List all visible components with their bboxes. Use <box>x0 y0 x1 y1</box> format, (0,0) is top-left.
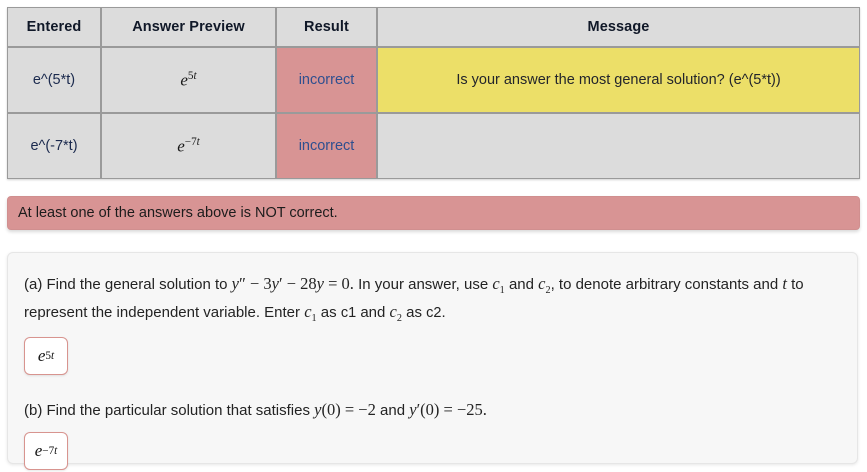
answer-input-part-a[interactable]: e5t <box>24 337 68 375</box>
conjunction-and-1: and <box>509 276 534 293</box>
answer-b-base: e <box>35 441 43 461</box>
table-row: e^(-7*t) e−7t incorrect <box>7 113 860 179</box>
cell-entered: e^(-7*t) <box>7 113 101 179</box>
results-table-container: Entered Answer Preview Result Message e^… <box>7 7 860 179</box>
answer-a-base: e <box>38 346 46 366</box>
equation-y2: y <box>272 274 279 293</box>
code-c2: c2 <box>426 305 441 321</box>
preview-exponent: 5t <box>188 70 197 82</box>
equation-double-prime: ″ <box>239 274 246 293</box>
equation-y1: y <box>232 274 239 293</box>
equation-equals-zero: = 0. <box>324 274 354 293</box>
equation-minus-28: − 28 <box>283 274 317 293</box>
answer-b-exponent: −7t <box>42 445 57 457</box>
part-b-label: (b) <box>24 402 42 419</box>
conjunction-and-2: and <box>360 304 385 321</box>
page-root: Entered Answer Preview Result Message e^… <box>0 0 867 472</box>
condition-y-value: = −2 <box>341 400 376 419</box>
column-header-result: Result <box>276 7 377 47</box>
condition-yprime-value: = −25. <box>439 400 487 419</box>
cell-answer-preview: e5t <box>101 47 276 113</box>
cell-entered: e^(5*t) <box>7 47 101 113</box>
results-table: Entered Answer Preview Result Message e^… <box>7 7 860 179</box>
condition-yprime-arg: (0) <box>420 400 439 419</box>
part-b-text-1: Find the particular solution that satisf… <box>47 402 310 419</box>
question-part-a: (a) Find the general solution to y″ − 3y… <box>24 271 814 327</box>
part-a-text-3: , to denote arbitrary constants and <box>551 276 779 293</box>
equation-minus-3: − 3 <box>246 274 272 293</box>
condition-yprime: y <box>409 400 416 419</box>
cell-result-status: incorrect <box>276 47 377 113</box>
cell-message <box>377 113 860 179</box>
part-a-text-2: In your answer, use <box>358 276 488 293</box>
answer-input-part-b[interactable]: e−7t <box>24 432 68 470</box>
part-a-text-1: Find the general solution to <box>47 276 228 293</box>
cell-result-status: incorrect <box>276 113 377 179</box>
results-table-head: Entered Answer Preview Result Message <box>7 7 860 47</box>
variable-t: t <box>782 274 787 293</box>
constant-c1-subscript: 1 <box>500 285 505 296</box>
constant-c1: c <box>492 274 499 293</box>
column-header-answer-preview: Answer Preview <box>101 7 276 47</box>
table-row: e^(5*t) e5t incorrect Is your answer the… <box>7 47 860 113</box>
answer-a-exponent-variable: t <box>51 350 54 362</box>
constant-c1-b: c <box>304 302 311 321</box>
question-part-b: (b) Find the particular solution that sa… <box>24 397 814 423</box>
problem-panel: (a) Find the general solution to y″ − 3y… <box>7 252 858 464</box>
constant-c2-b: c <box>390 302 397 321</box>
column-header-entered: Entered <box>7 7 101 47</box>
column-header-message: Message <box>377 7 860 47</box>
cell-message: Is your answer the most general solution… <box>377 47 860 113</box>
part-a-period: . <box>441 304 445 321</box>
preview-base: e <box>180 70 188 89</box>
preview-exponent-variable: t <box>194 70 197 82</box>
preview-exponent: −7t <box>185 136 200 148</box>
preview-exponent-variable: t <box>197 136 200 148</box>
condition-y-arg: (0) <box>321 400 340 419</box>
answer-b-exponent-variable: t <box>54 445 57 457</box>
alert-text: At least one of the answers above is NOT… <box>18 205 338 221</box>
alert-banner-incorrect: At least one of the answers above is NOT… <box>7 196 860 230</box>
code-c1: c1 <box>341 305 356 321</box>
preview-base: e <box>177 136 185 155</box>
constant-c2-b-subscript: 2 <box>397 313 402 324</box>
as-keyword-2: as <box>406 304 422 321</box>
part-a-label: (a) <box>24 276 42 293</box>
answer-a-exponent: 5t <box>45 350 54 362</box>
as-keyword-1: as <box>321 304 337 321</box>
part-b-and: and <box>380 402 405 419</box>
constant-c1-b-subscript: 1 <box>312 313 317 324</box>
results-table-body: e^(5*t) e5t incorrect Is your answer the… <box>7 47 860 179</box>
cell-answer-preview: e−7t <box>101 113 276 179</box>
equation-y3: y <box>317 274 324 293</box>
table-header-row: Entered Answer Preview Result Message <box>7 7 860 47</box>
